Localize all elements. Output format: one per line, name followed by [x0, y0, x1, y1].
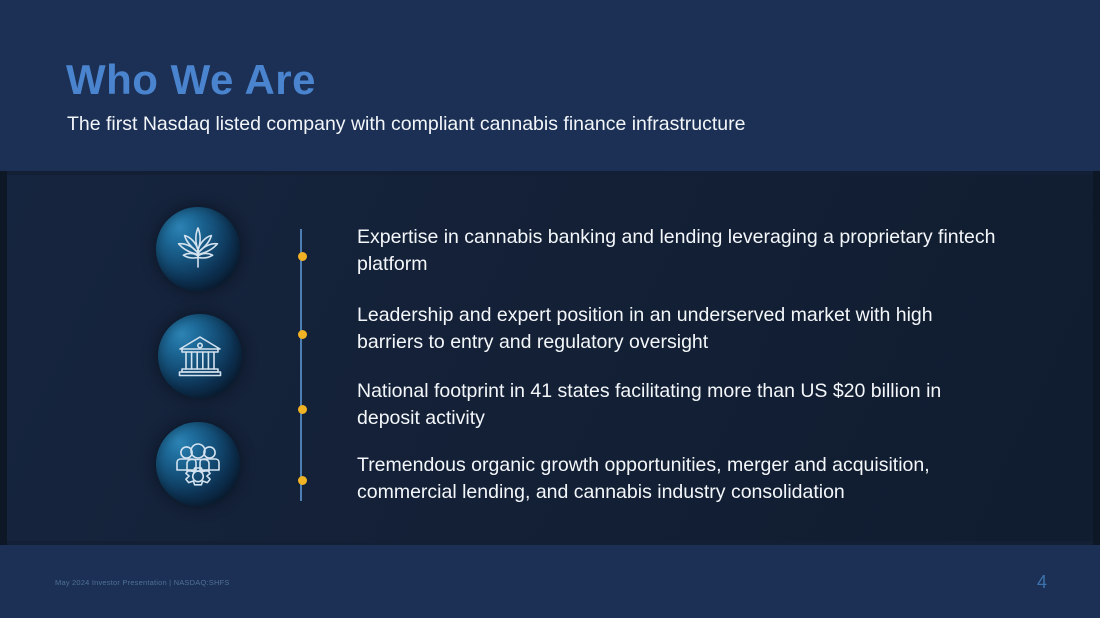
cannabis-leaf-icon — [172, 223, 224, 275]
timeline-dot-1 — [298, 252, 307, 261]
page-number: 4 — [1030, 572, 1054, 593]
bullet-item-4: Tremendous organic growth opportunities,… — [357, 452, 997, 506]
people-gear-icon — [172, 438, 224, 490]
slide-who-we-are: Who We Are The first Nasdaq listed compa… — [0, 0, 1100, 618]
page-title: Who We Are — [66, 57, 316, 103]
timeline-dot-4 — [298, 476, 307, 485]
page-subtitle: The first Nasdaq listed company with com… — [67, 113, 746, 136]
bullet-item-2: Leadership and expert position in an und… — [357, 302, 997, 356]
panel-edge-left — [0, 171, 7, 545]
icon-badge-bank — [158, 314, 242, 398]
footer-note: May 2024 Investor Presentation | NASDAQ:… — [55, 578, 230, 587]
timeline-dot-3 — [298, 405, 307, 414]
icon-badge-cannabis — [156, 207, 240, 291]
timeline-dot-2 — [298, 330, 307, 339]
bank-building-icon — [175, 331, 225, 381]
icon-badge-team — [156, 422, 240, 506]
timeline-line — [300, 229, 302, 501]
bullet-item-3: National footprint in 41 states facilita… — [357, 378, 997, 432]
bullet-item-1: Expertise in cannabis banking and lendin… — [357, 224, 997, 278]
panel-edge-right — [1093, 171, 1100, 545]
